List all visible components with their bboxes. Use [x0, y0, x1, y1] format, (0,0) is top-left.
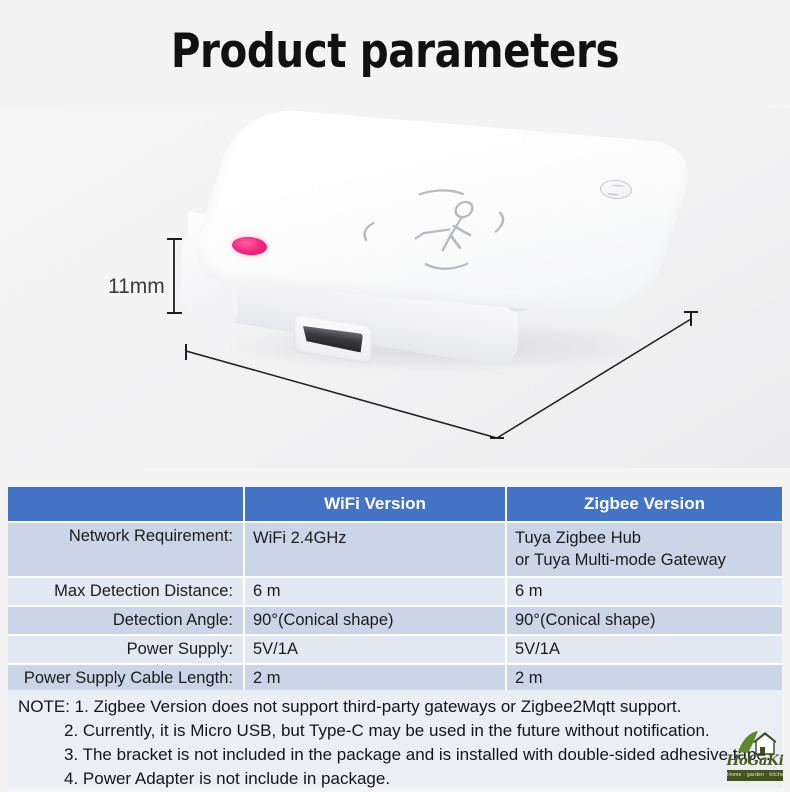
dimension-height-label: 11mm	[108, 275, 165, 299]
column-header-zigbee: Zigbee Version	[507, 487, 782, 523]
value-line: or Tuya Multi-mode Gateway	[515, 549, 774, 571]
notes-section: NOTE: 1. Zigbee Version does not support…	[8, 690, 782, 788]
device-render	[176, 120, 686, 410]
page-title: Product parameters	[55, 24, 734, 79]
hogaki-logo: HoGaKi Home · garden · kitchen	[726, 730, 784, 786]
table-row: Max Detection Distance: 6 m 6 m	[8, 578, 782, 607]
note-line-3: 3. The bracket is not included in the pa…	[8, 743, 782, 767]
row-value-zigbee-network-requirement: Tuya Zigbee Hub or Tuya Multi-mode Gatew…	[507, 523, 782, 578]
row-value-wifi-detection-angle: 90°(Conical shape)	[245, 607, 507, 636]
spec-table-body: Network Requirement: WiFi 2.4GHz Tuya Zi…	[8, 523, 782, 694]
logo-tagline: Home · garden · kitchen	[727, 770, 783, 781]
value-line: WiFi 2.4GHz	[253, 527, 497, 549]
value-line: Tuya Zigbee Hub	[515, 527, 774, 549]
table-header-row: WiFi Version Zigbee Version	[8, 487, 782, 523]
note-line-2: 2. Currently, it is Micro USB, but Type-…	[8, 719, 782, 743]
column-header-wifi: WiFi Version	[245, 487, 507, 523]
logo-wordmark: HoGaKi	[726, 753, 784, 769]
row-value-zigbee-max-detection-distance: 6 m	[507, 578, 782, 607]
row-label-detection-angle: Detection Angle:	[8, 607, 245, 636]
motion-person-icon	[339, 173, 569, 284]
row-value-zigbee-detection-angle: 90°(Conical shape)	[507, 607, 782, 636]
row-label-power-supply: Power Supply:	[8, 636, 245, 665]
row-value-wifi-network-requirement: WiFi 2.4GHz	[245, 523, 507, 578]
table-row: Detection Angle: 90°(Conical shape) 90°(…	[8, 607, 782, 636]
row-value-wifi-max-detection-distance: 6 m	[245, 578, 507, 607]
row-label-network-requirement: Network Requirement:	[8, 523, 245, 578]
row-value-wifi-power-supply: 5V/1A	[245, 636, 507, 665]
table-row: Power Supply: 5V/1A 5V/1A	[8, 636, 782, 665]
row-value-zigbee-power-supply: 5V/1A	[507, 636, 782, 665]
table-row: Network Requirement: WiFi 2.4GHz Tuya Zi…	[8, 523, 782, 578]
note-line-4: 4. Power Adapter is not include in packa…	[8, 767, 782, 791]
column-header-blank	[8, 487, 245, 523]
spec-table: WiFi Version Zigbee Version Network Requ…	[8, 487, 782, 694]
spec-table-head: WiFi Version Zigbee Version	[8, 487, 782, 523]
note-line-1: NOTE: 1. Zigbee Version does not support…	[8, 695, 782, 719]
row-label-max-detection-distance: Max Detection Distance:	[8, 578, 245, 607]
product-illustration: 11mm 50mm 50mm	[0, 108, 790, 468]
